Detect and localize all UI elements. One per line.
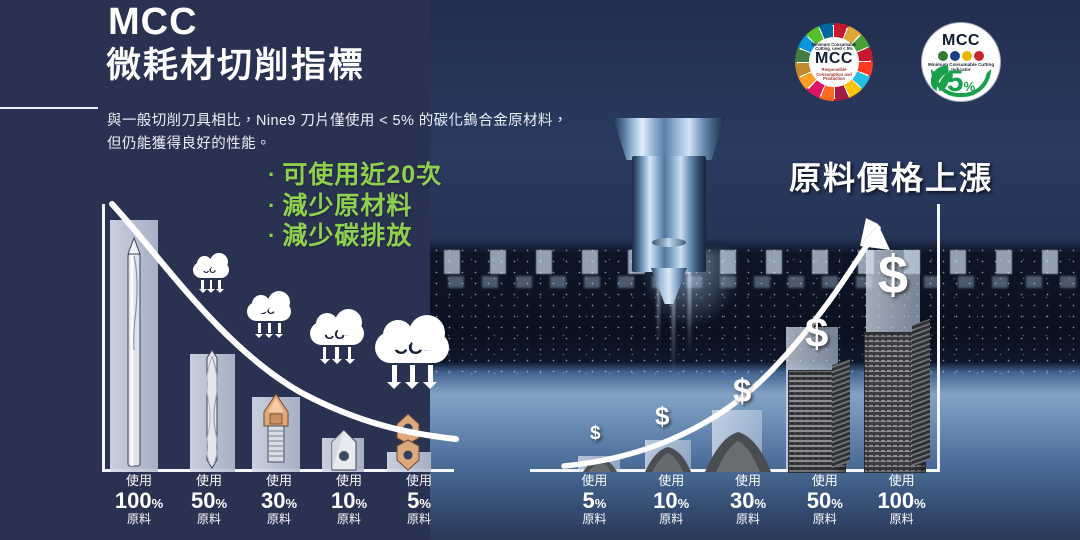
tick-label: 使用 10% 原料: [314, 474, 384, 527]
bullet-marker-icon: ·: [268, 164, 276, 186]
header-divider: [0, 107, 98, 109]
sdg-mcc-badge: Minimum Consumable Cutting, used < 5% MC…: [795, 23, 873, 101]
co2-label: CO2: [193, 262, 229, 278]
co2-arrows-down-icon: [310, 347, 364, 359]
tick-label: 使用 5% 原料: [384, 474, 454, 527]
tick-label: 使用 10% 原料: [633, 474, 710, 527]
left-chart-tick-labels: 使用 100% 原料 使用 50% 原料 使用 30% 原料 使用 10% 原料…: [104, 474, 454, 527]
sdg-badge-bottom-text: Responsible Consumption and Production: [809, 68, 859, 81]
co2-arrows-down-icon: [247, 323, 291, 333]
list-item-label: 可使用近20次: [282, 160, 442, 191]
co2-label: CO2: [247, 302, 291, 321]
co2-cloud-4: CO2: [375, 332, 449, 382]
tick-label: 使用 30% 原料: [244, 474, 314, 527]
infographic-canvas: MCC 微耗材切削指標 與一般切削刀具相比，Nine9 刀片僅使用 < 5% 的…: [0, 0, 1080, 540]
co2-arrows-down-icon: [375, 365, 449, 382]
dollar-symbol-3: $: [733, 374, 751, 407]
tick-label: 使用 100% 原料: [104, 474, 174, 527]
tick-label: 使用 50% 原料: [786, 474, 863, 527]
tick-label: 使用 30% 原料: [710, 474, 787, 527]
tick-label: 使用 50% 原料: [174, 474, 244, 527]
price-increase-headline: 原料價格上漲: [789, 153, 993, 199]
subtitle-line-1: 與一般切削刀具相比，Nine9 刀片僅使用 < 5% 的碳化鎢合金原材料，: [107, 110, 568, 133]
spindle-taper: [613, 118, 725, 160]
brand-title: MCC: [108, 3, 198, 41]
co2-label: CO2: [310, 322, 364, 345]
co2-label: CO2: [375, 332, 449, 363]
tick-label: 使用 5% 原料: [556, 474, 633, 527]
mcc5-badge-title: MCC: [922, 32, 1000, 50]
right-chart-tick-labels: 使用 5% 原料 使用 10% 原料 使用 30% 原料 使用 50% 原料 使…: [556, 474, 940, 527]
co2-cloud-3: CO2: [310, 322, 364, 359]
mcc5-badge-circle: MCC Minimum Consumable Cutting Indicator…: [922, 23, 1000, 101]
tick-label: 使用 100% 原料: [863, 474, 940, 527]
sdg-badge-center-text: MCC: [815, 51, 853, 68]
subtitle-line-2: 但仍能獲得良好的性能。: [107, 133, 271, 156]
mcc5-badge-value: 5%: [922, 67, 1000, 97]
sdg-badge-inner: Minimum Consumable Cutting, used < 5% MC…: [809, 37, 859, 87]
spindle-body: [605, 0, 733, 124]
mcc-5-percent-badge: MCC Minimum Consumable Cutting Indicator…: [922, 23, 1000, 101]
list-item: · 可使用近20次: [268, 160, 442, 191]
co2-arrows-down-icon: [193, 280, 229, 289]
co2-cloud-1: CO2: [193, 262, 229, 289]
dollar-symbol-4: $: [805, 312, 828, 354]
co2-cloud-2: CO2: [247, 302, 291, 333]
dollar-symbol-2: $: [655, 403, 669, 429]
dollar-symbol-5: $: [878, 248, 908, 302]
page-title: 微耗材切削指標: [106, 48, 365, 85]
dollar-symbol-1: $: [590, 424, 601, 443]
mcc5-indicator-dots-icon: [922, 51, 1000, 61]
